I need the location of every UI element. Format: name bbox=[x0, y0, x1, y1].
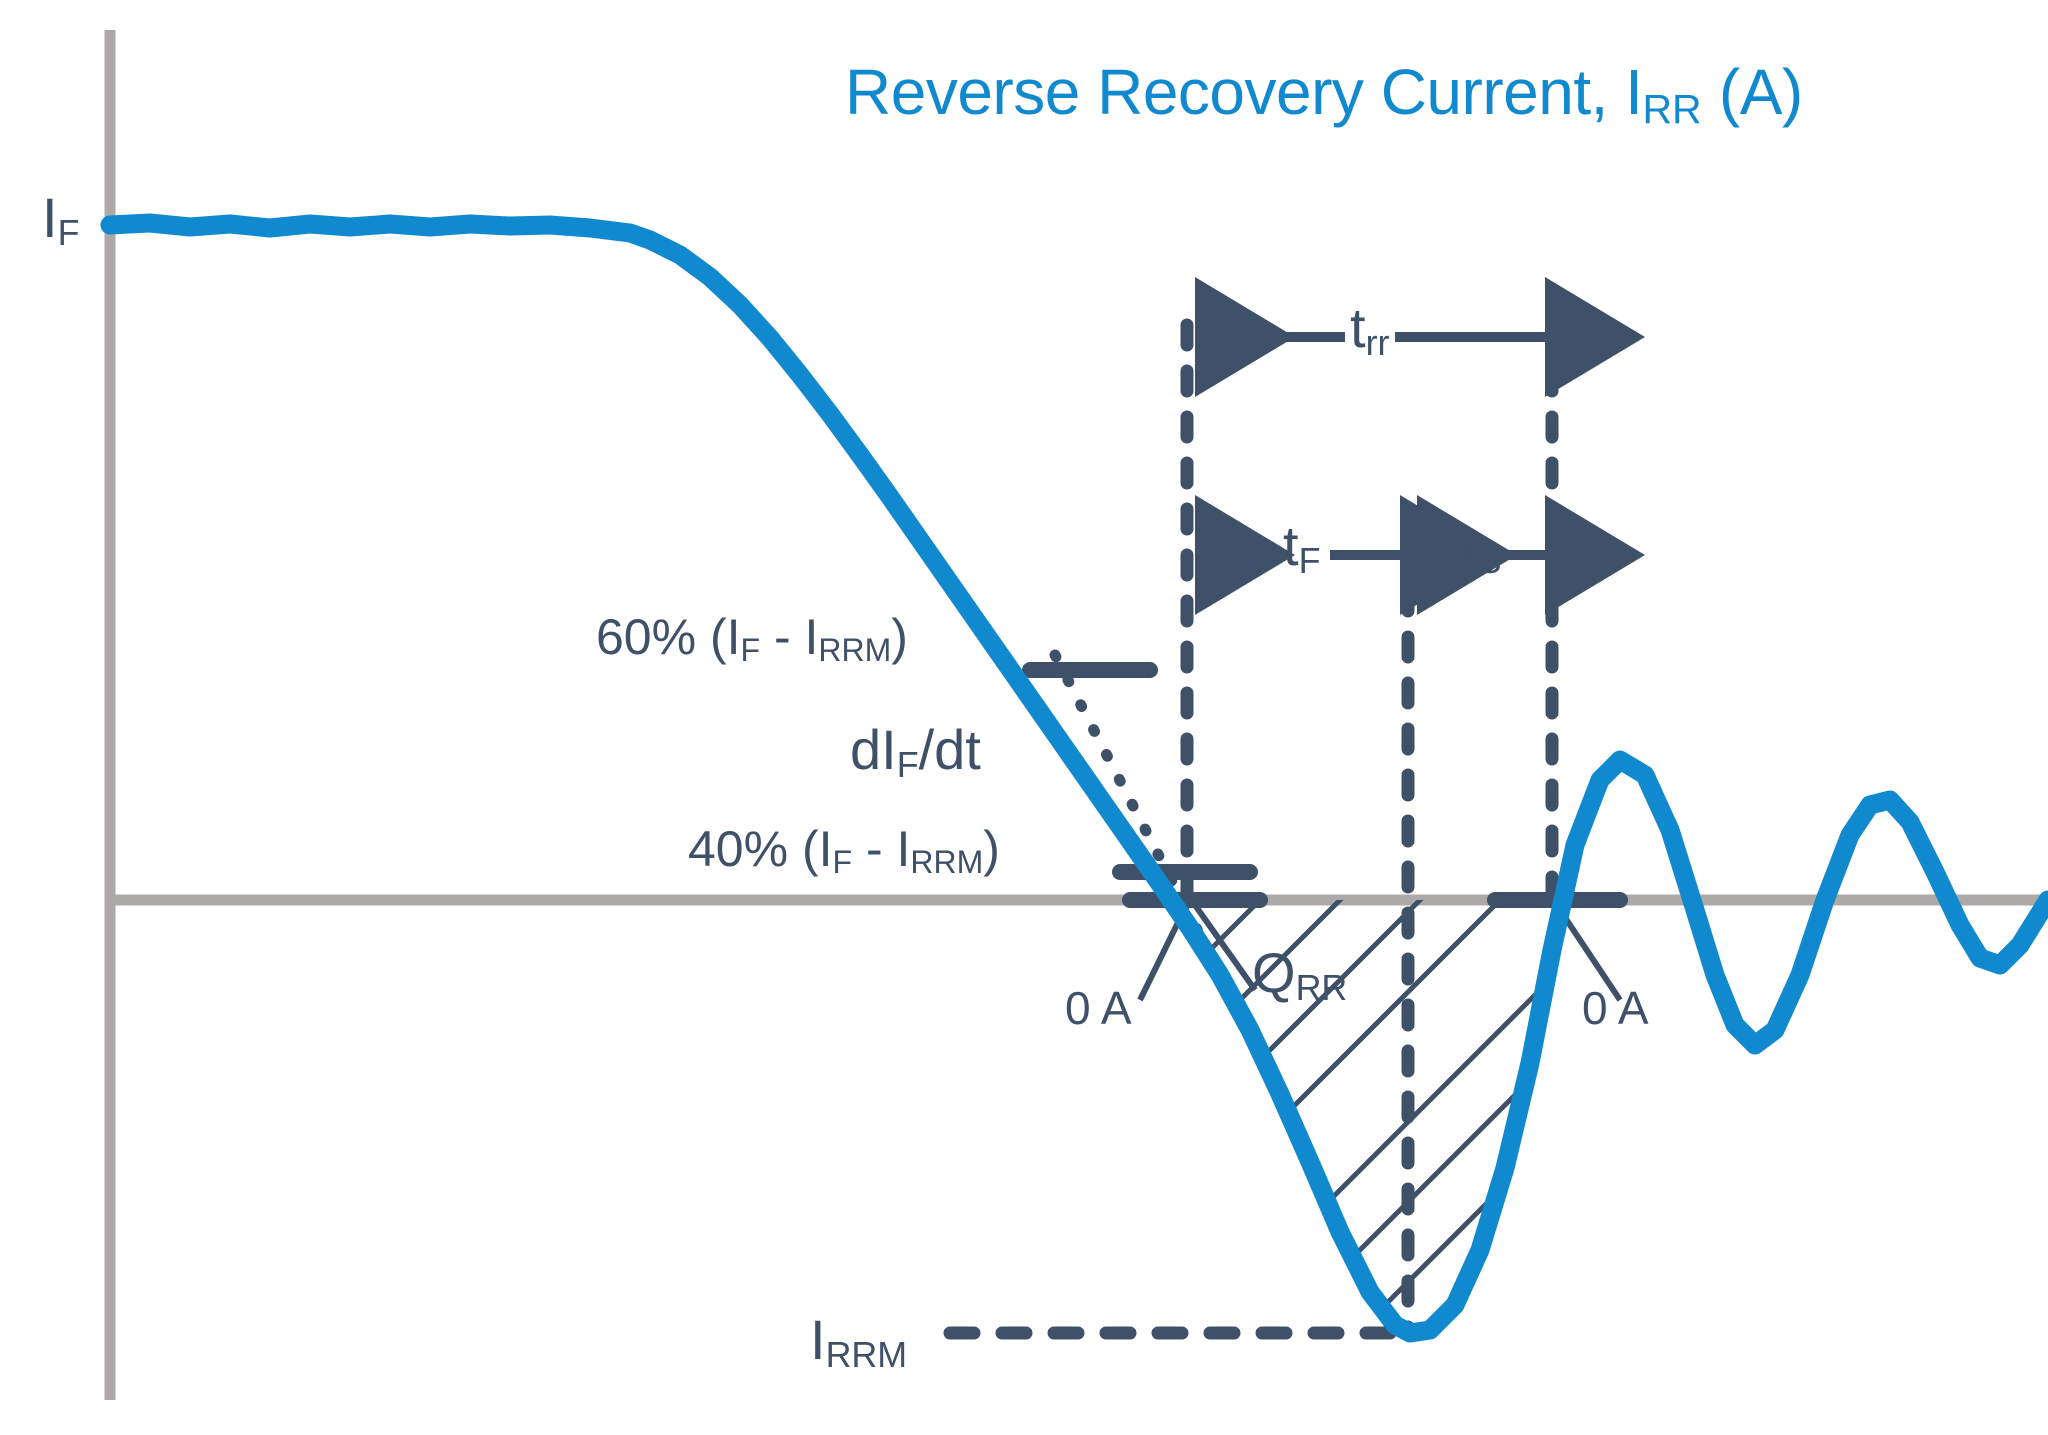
waveform-svg bbox=[0, 0, 2048, 1435]
chart-canvas: Reverse Recovery Current, IRR (A) IF IRR… bbox=[0, 0, 2048, 1435]
label-zero-a-right: 0 A bbox=[1582, 985, 1649, 1031]
annotation-60-percent: 60% (IF - IRRM) bbox=[596, 612, 908, 662]
qrr-hatch-region bbox=[1080, 750, 1700, 1400]
annotation-tf: tF bbox=[1283, 518, 1320, 574]
annotation-trr: trr bbox=[1350, 300, 1389, 356]
label-zero-a-left: 0 A bbox=[1065, 985, 1132, 1031]
reverse-recovery-curve bbox=[110, 223, 2048, 1333]
axis-label-if: IF bbox=[42, 190, 79, 246]
annotation-ts: tS bbox=[1462, 518, 1501, 574]
chart-title: Reverse Recovery Current, IRR (A) bbox=[845, 55, 1803, 129]
annotation-40-percent: 40% (IF - IRRM) bbox=[688, 824, 1000, 874]
axis-label-irrm: IRRM bbox=[810, 1312, 907, 1368]
annotation-qrr: QRR bbox=[1252, 945, 1347, 1001]
annotation-dif-dt: dIF/dt bbox=[850, 722, 981, 778]
